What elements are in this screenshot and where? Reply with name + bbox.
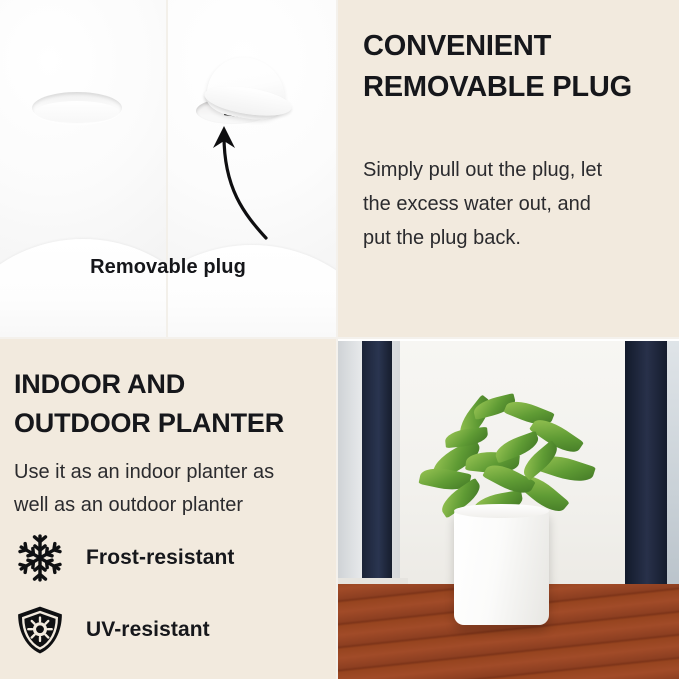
left-window-glass [362,341,392,584]
right-window-frame [625,341,669,595]
plug-body-text: Simply pull out the plug, let the excess… [363,153,675,255]
lifestyle-photo-panel [338,341,679,679]
planter-headline: INDOOR AND OUTDOOR PLANTER [14,365,332,443]
feature-label: UV-resistant [86,618,210,642]
seated-plug [32,92,122,124]
right-window-glass [667,341,679,595]
feature-label: Frost-resistant [86,546,235,570]
plug-caption: Removable plug [0,254,336,280]
panel-divider-horizontal [0,337,679,339]
curved-arrow-up-icon [180,110,276,240]
panel-divider-vertical [336,0,338,679]
plug-text-panel: CONVENIENT REMOVABLE PLUG Simply pull ou… [337,0,679,337]
planter-body-text: Use it as an indoor planter as well as a… [14,456,334,522]
feature-frost-resistant: Frost-resistant [12,531,322,585]
snowflake-icon [12,531,68,585]
plug-removed-photo [168,0,336,337]
plug-photo-panel: Removable plug [0,0,336,337]
uv-shield-icon [12,603,68,657]
white-planter [454,510,549,625]
planter-text-panel: INDOOR AND OUTDOOR PLANTER Use it as an … [0,338,336,679]
plug-headline: CONVENIENT REMOVABLE PLUG [363,26,671,108]
product-infographic: Removable plug CONVENIENT REMOVABLE PLUG… [0,0,679,679]
plug-seated-photo [0,0,166,337]
feature-uv-resistant: UV-resistant [12,603,322,657]
balcony-scene [338,341,679,679]
